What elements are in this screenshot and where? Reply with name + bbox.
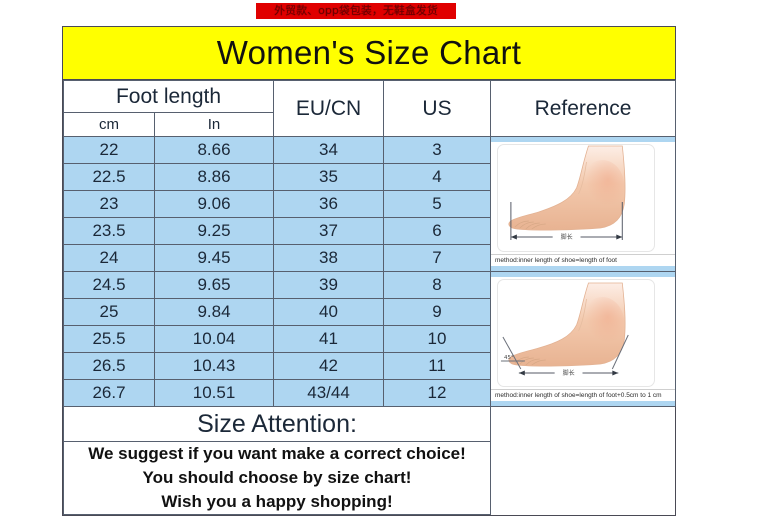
cell-eu: 37	[274, 218, 384, 245]
reference-cell-top: 脚长 method:inner length of shoe=length of…	[491, 137, 676, 272]
cell-eu: 36	[274, 191, 384, 218]
table-header-row-primary: Foot length EU/CN US Reference	[64, 81, 676, 113]
attention-note-line: We suggest if you want make a correct ch…	[64, 442, 490, 466]
table-row: 22 8.66 34 3	[64, 137, 676, 164]
size-table: Foot length EU/CN US Reference cm In 22 …	[63, 80, 676, 515]
cell-eu: 43/44	[274, 380, 384, 407]
cell-us: 9	[384, 299, 491, 326]
table-row: 24.5 9.65 39 8	[64, 272, 676, 299]
cell-us: 7	[384, 245, 491, 272]
cell-us: 8	[384, 272, 491, 299]
reference-cell-bottom: 45° 脚长 method:inner length of shoe=lengt…	[491, 272, 676, 407]
cell-cm: 23.5	[64, 218, 155, 245]
cell-cm: 26.5	[64, 353, 155, 380]
cell-in: 9.65	[155, 272, 274, 299]
cell-eu: 34	[274, 137, 384, 164]
header-cm: cm	[64, 113, 155, 137]
attention-notes-row: We suggest if you want make a correct ch…	[64, 442, 676, 515]
cell-cm: 26.7	[64, 380, 155, 407]
cell-us: 3	[384, 137, 491, 164]
cell-cm: 22.5	[64, 164, 155, 191]
cell-cm: 22	[64, 137, 155, 164]
cell-in: 9.25	[155, 218, 274, 245]
svg-text:脚长: 脚长	[563, 369, 575, 377]
cell-us: 4	[384, 164, 491, 191]
cell-cm: 24.5	[64, 272, 155, 299]
cell-eu: 41	[274, 326, 384, 353]
reference-caption-top: method:inner length of shoe=length of fo…	[491, 254, 675, 266]
cell-eu: 39	[274, 272, 384, 299]
cell-eu: 35	[274, 164, 384, 191]
header-us: US	[384, 81, 491, 137]
cell-cm: 23	[64, 191, 155, 218]
foot-side-view-angled-icon: 45° 脚长	[491, 277, 675, 389]
attention-title: Size Attention:	[64, 407, 491, 442]
cell-us: 10	[384, 326, 491, 353]
cell-eu: 38	[274, 245, 384, 272]
attention-note-line: Wish you a happy shopping!	[64, 490, 490, 514]
cell-eu: 40	[274, 299, 384, 326]
cell-in: 9.06	[155, 191, 274, 218]
cell-us: 11	[384, 353, 491, 380]
cell-us: 6	[384, 218, 491, 245]
cell-cm: 24	[64, 245, 155, 272]
cell-eu: 42	[274, 353, 384, 380]
chart-title-bar: Women's Size Chart	[63, 27, 675, 80]
cell-in: 8.86	[155, 164, 274, 191]
attention-title-row: Size Attention:	[64, 407, 676, 442]
header-in: In	[155, 113, 274, 137]
page-title: Women's Size Chart	[217, 34, 522, 72]
cell-in: 8.66	[155, 137, 274, 164]
reference-caption-bottom: method:inner length of shoe=length of fo…	[491, 389, 675, 401]
cell-us: 5	[384, 191, 491, 218]
size-chart-card: Women's Size Chart Foot length EU/CN US …	[62, 26, 676, 516]
header-eu-cn: EU/CN	[274, 81, 384, 137]
cell-us: 12	[384, 380, 491, 407]
svg-text:45°: 45°	[504, 355, 514, 361]
svg-text:脚长: 脚长	[561, 233, 573, 241]
cell-in: 9.84	[155, 299, 274, 326]
cell-cm: 25.5	[64, 326, 155, 353]
foot-illustration-angled: 45° 脚长	[491, 277, 675, 389]
cell-in: 9.45	[155, 245, 274, 272]
foot-diagram-top: 脚长 method:inner length of shoe=length of…	[491, 142, 675, 266]
promo-banner: 外贸款、opp袋包装，无鞋盒发货	[256, 3, 456, 19]
cell-in: 10.51	[155, 380, 274, 407]
attention-note-line: You should choose by size chart!	[64, 466, 490, 490]
cell-in: 10.43	[155, 353, 274, 380]
cell-in: 10.04	[155, 326, 274, 353]
attention-notes: We suggest if you want make a correct ch…	[64, 442, 491, 515]
header-reference: Reference	[491, 81, 676, 137]
foot-illustration-straight: 脚长	[491, 142, 675, 254]
foot-side-view-icon: 脚长	[491, 142, 675, 254]
cell-cm: 25	[64, 299, 155, 326]
foot-diagram-bottom: 45° 脚长 method:inner length of shoe=lengt…	[491, 277, 675, 401]
header-foot-length: Foot length	[64, 81, 274, 113]
